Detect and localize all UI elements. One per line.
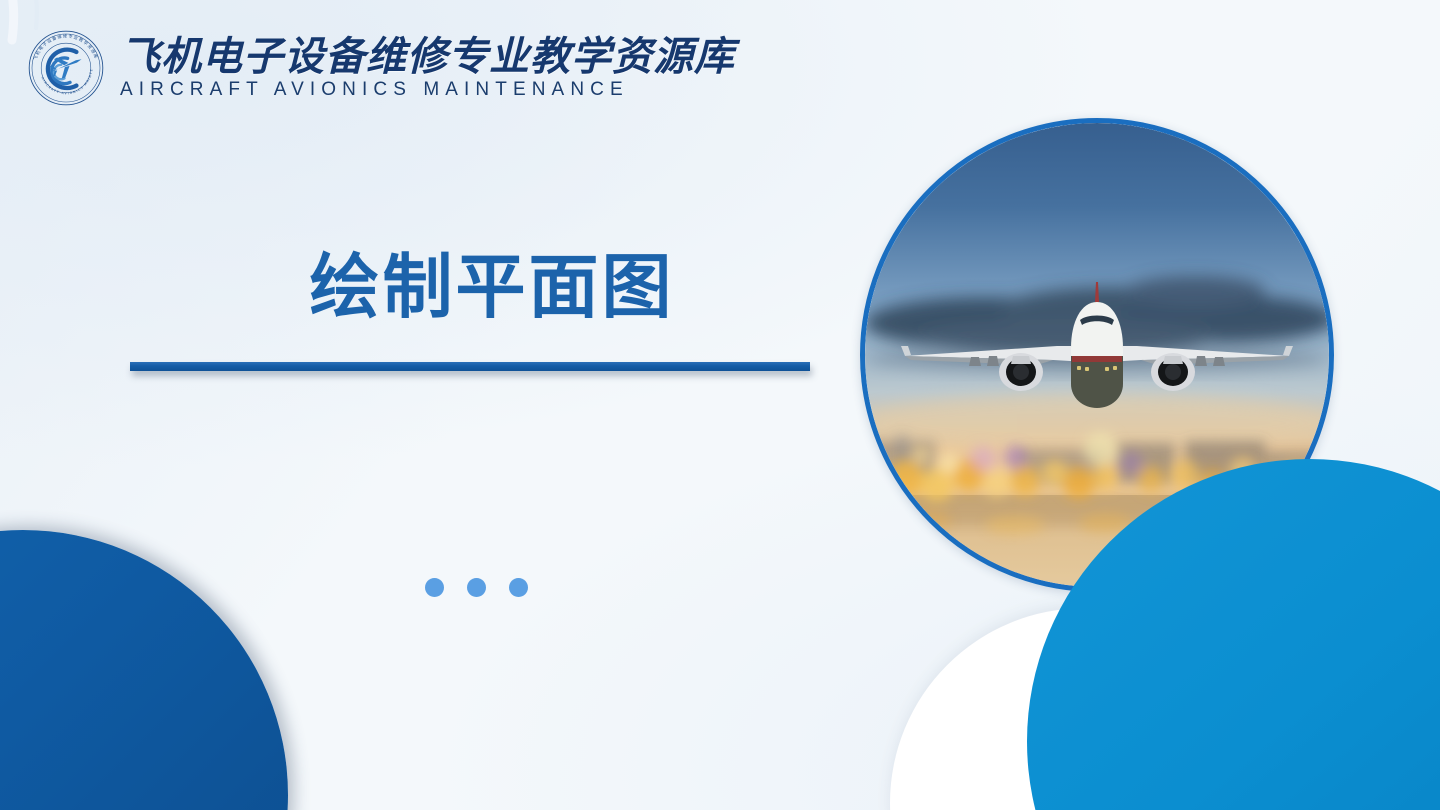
page-title: 绘制平面图 — [130, 252, 840, 322]
brand-lockup: 飞机电子设备维修专业教学资源库 AIRCRAFT AVIONICS MAINTE… — [26, 28, 735, 108]
title-block: 绘制平面图 — [130, 252, 840, 322]
brand-title-en: AIRCRAFT AVIONICS MAINTENANCE — [120, 80, 735, 101]
brand-text-block: 飞机电子设备维修专业教学资源库 AIRCRAFT AVIONICS MAINTE… — [120, 35, 735, 102]
dot-2 — [467, 578, 486, 597]
bottom-left-circle-decoration — [0, 530, 288, 810]
dot-1 — [425, 578, 444, 597]
brand-title-cn: 飞机电子设备维修专业教学资源库 — [120, 37, 735, 78]
dot-indicator-group — [425, 578, 528, 597]
title-underline-bar — [130, 362, 810, 371]
presentation-slide: 飞机电子设备维修专业教学资源库 AIRCRAFT AVIONICS MAINTE… — [0, 0, 1440, 810]
aircraft-avionics-emblem-icon: 飞机电子设备维修专业教学资源库 AIRCRAFT AVIONICS MAINTE… — [26, 28, 106, 108]
dot-3 — [509, 578, 528, 597]
